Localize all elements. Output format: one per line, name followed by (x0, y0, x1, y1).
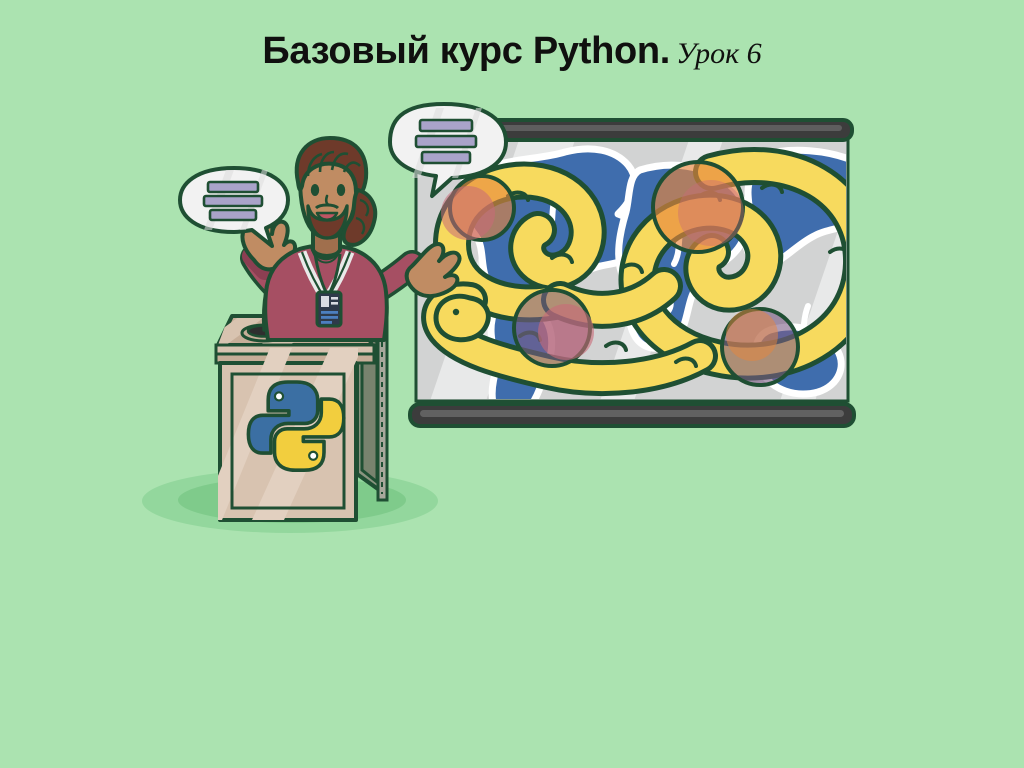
bubble-right-bars (416, 120, 476, 163)
snake-head (436, 296, 488, 340)
lecture-illustration (0, 0, 1024, 768)
bubble-left-bars (204, 182, 262, 220)
screen-bottom-bar (410, 404, 854, 426)
slide-canvas: Базовый курс Python.Урок 6 (0, 0, 1024, 768)
